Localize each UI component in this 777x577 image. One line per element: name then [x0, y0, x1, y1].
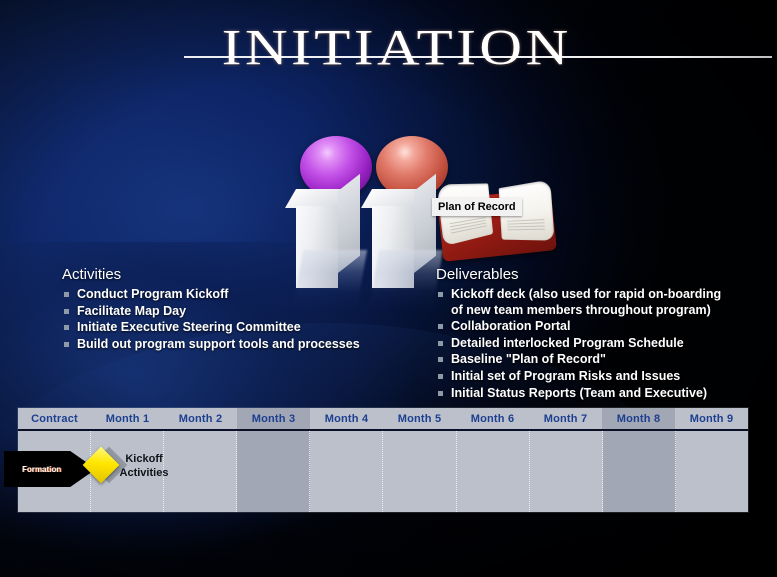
- timeline-header-month-8: Month 8: [602, 408, 675, 429]
- deliverables-heading: Deliverables: [436, 266, 736, 283]
- title-block: INITIATION: [0, 22, 777, 73]
- list-item: Initiate Executive Steering Committee: [62, 320, 434, 336]
- book-icon: Plan of Record: [438, 178, 556, 260]
- deliverables-list: Kickoff deck (also used for rapid on-boa…: [436, 287, 736, 401]
- book-page-lines: [450, 217, 487, 236]
- list-item: Initial Status Reports (Team and Executi…: [436, 386, 736, 402]
- timeline-header-month-1: Month 1: [91, 408, 164, 429]
- timeline-header-month-7: Month 7: [529, 408, 602, 429]
- list-item: Kickoff deck (also used for rapid on-boa…: [436, 287, 736, 318]
- activities-section: Activities Conduct Program Kickoff Facil…: [62, 266, 434, 353]
- page-title: INITIATION: [0, 21, 777, 73]
- timeline-header-contract: Contract: [18, 408, 91, 429]
- timeline-header-month-4: Month 4: [310, 408, 383, 429]
- list-item: Conduct Program Kickoff: [62, 287, 434, 303]
- list-item: Baseline "Plan of Record": [436, 352, 736, 368]
- timeline-header-row: Contract Month 1 Month 2 Month 3 Month 4…: [18, 408, 748, 431]
- title-divider: [184, 56, 772, 58]
- list-item: Detailed interlocked Program Schedule: [436, 336, 736, 352]
- book-page-lines: [507, 219, 545, 232]
- milestone-label: Kickoff Activities: [112, 452, 176, 480]
- timeline-header-month-2: Month 2: [164, 408, 237, 429]
- list-item: Build out program support tools and proc…: [62, 337, 434, 353]
- timeline-header-month-6: Month 6: [456, 408, 529, 429]
- activities-list: Conduct Program Kickoff Facilitate Map D…: [62, 287, 434, 352]
- phase-bar-label: Formation: [4, 465, 61, 474]
- list-item: Collaboration Portal: [436, 319, 736, 335]
- timeline-header-month-9: Month 9: [675, 408, 748, 429]
- timeline-header-month-3: Month 3: [237, 408, 310, 429]
- list-item: Initial set of Program Risks and Issues: [436, 369, 736, 385]
- presentation-slide: INITIATION Plan of Record Activitie: [0, 0, 777, 577]
- list-item: Facilitate Map Day: [62, 304, 434, 320]
- activities-heading: Activities: [62, 266, 434, 283]
- timeline-header-month-5: Month 5: [383, 408, 456, 429]
- deliverables-section: Deliverables Kickoff deck (also used for…: [436, 266, 736, 402]
- book-callout-label: Plan of Record: [432, 198, 522, 216]
